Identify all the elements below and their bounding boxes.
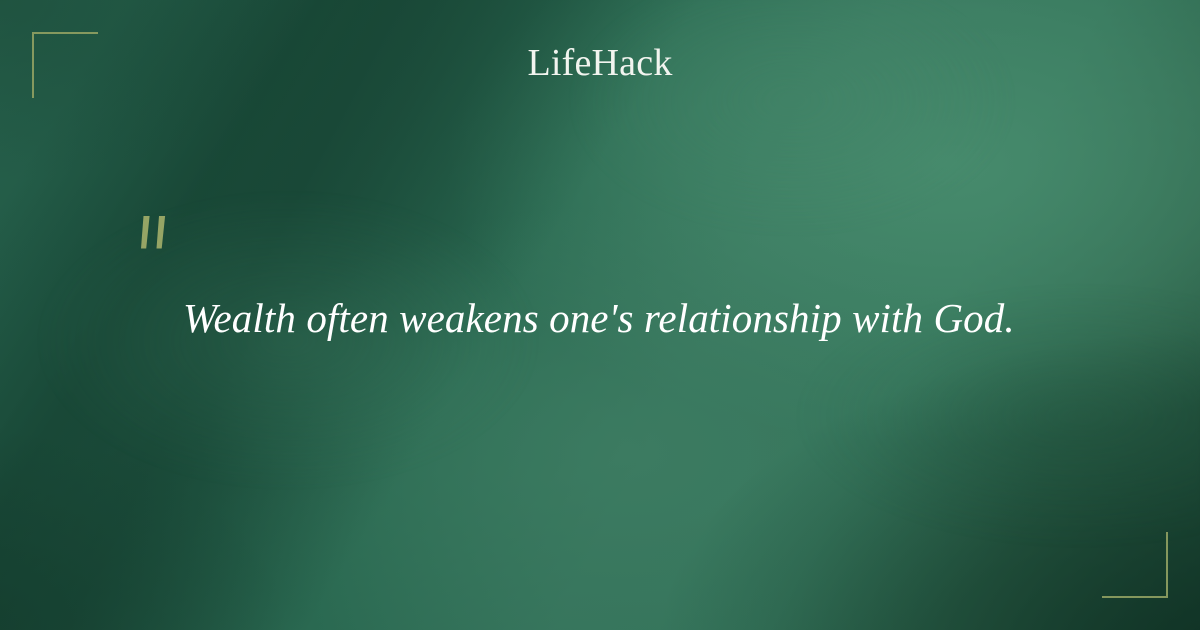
quote-text: Wealth often weakens one's relationship …	[183, 292, 1083, 344]
brand-logo: LifeHack	[0, 41, 1200, 85]
quote-card: LifeHack Wealth often weakens one's rela…	[0, 0, 1200, 630]
corner-bracket-bottom-right-icon	[1102, 532, 1168, 598]
quote-mark-icon	[131, 214, 179, 270]
